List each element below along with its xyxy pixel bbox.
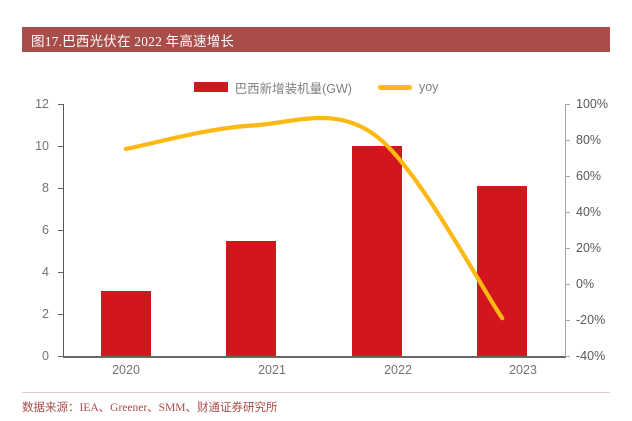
y-axis-right-tick bbox=[565, 140, 570, 141]
y-axis-right-label: -20% bbox=[576, 313, 605, 327]
x-axis-label-2023: 2023 bbox=[509, 363, 537, 377]
figure-container: 图17.巴西光伏在 2022 年高速增长 巴西新增装机量(GW) yoy 12 … bbox=[0, 0, 632, 421]
x-axis-label-2022: 2022 bbox=[384, 363, 412, 377]
y-axis-left-label: 0 bbox=[42, 349, 49, 363]
y-axis-right-tick bbox=[565, 356, 570, 357]
x-axis-line bbox=[63, 356, 566, 358]
y-axis-left-label: 8 bbox=[42, 181, 49, 195]
source-note: 数据来源：IEA、Greener、SMM、财通证券研究所 bbox=[22, 399, 278, 415]
y-axis-left-label: 6 bbox=[42, 223, 49, 237]
x-axis-label-2021: 2021 bbox=[258, 363, 286, 377]
y-axis-right-label: -40% bbox=[576, 349, 605, 363]
y-axis-right-tick bbox=[565, 176, 570, 177]
y-axis-right-label: 100% bbox=[576, 97, 608, 111]
footer-divider bbox=[22, 392, 610, 393]
y-axis-right-label: 0% bbox=[576, 277, 594, 291]
x-axis-label-2020: 2020 bbox=[112, 363, 140, 377]
y-axis-left-tick bbox=[58, 356, 63, 357]
yoy-line-path[interactable] bbox=[126, 118, 503, 318]
yoy-line-layer bbox=[63, 104, 565, 356]
y-axis-right-tick bbox=[565, 284, 570, 285]
y-axis-left-label: 2 bbox=[42, 307, 49, 321]
y-axis-right-tick bbox=[565, 248, 570, 249]
y-axis-left-label: 4 bbox=[42, 265, 49, 279]
y-axis-right-tick bbox=[565, 320, 570, 321]
y-axis-right-label: 40% bbox=[576, 205, 601, 219]
y-axis-right-tick bbox=[565, 212, 570, 213]
y-axis-left-label: 12 bbox=[35, 97, 49, 111]
y-axis-right-tick bbox=[565, 104, 570, 105]
y-axis-left-label: 10 bbox=[35, 139, 49, 153]
y-axis-right-label: 60% bbox=[576, 169, 601, 183]
y-axis-right-label: 20% bbox=[576, 241, 601, 255]
plot-wrapper: 12 10 8 6 4 2 0 100% 80% 60% 40% 20% 0% … bbox=[0, 0, 632, 421]
y-axis-right-label: 80% bbox=[576, 133, 601, 147]
